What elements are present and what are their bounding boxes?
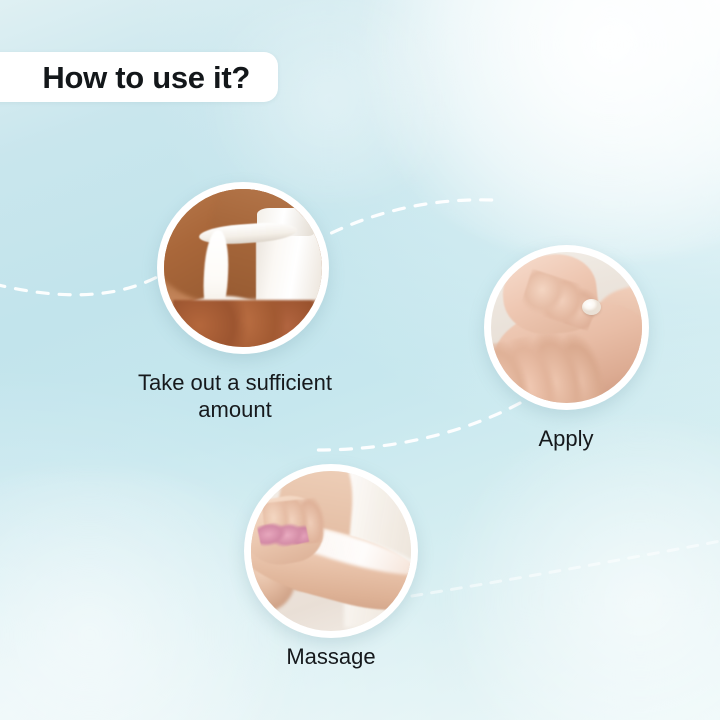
background-glow-bottom-right xyxy=(430,420,720,720)
connector-left-edge-to-step-1 xyxy=(0,272,166,295)
page-title-box: How to use it? xyxy=(0,52,278,102)
how-to-use-infographic: How to use it? Take out a sufficient amo… xyxy=(0,0,720,720)
step-3-caption: Massage xyxy=(211,644,451,671)
photo-apply xyxy=(484,245,649,410)
step-2-caption: Apply xyxy=(446,426,686,453)
background-glow-top-right xyxy=(330,0,720,260)
photo-massage xyxy=(244,464,418,638)
page-title: How to use it? xyxy=(42,62,250,93)
connector-step-1-to-step-2 xyxy=(312,200,492,243)
step-1-caption: Take out a sufficient amount xyxy=(85,370,385,424)
connector-step-3-to-right-edge xyxy=(412,540,720,596)
photo-take-out-amount xyxy=(157,182,329,354)
